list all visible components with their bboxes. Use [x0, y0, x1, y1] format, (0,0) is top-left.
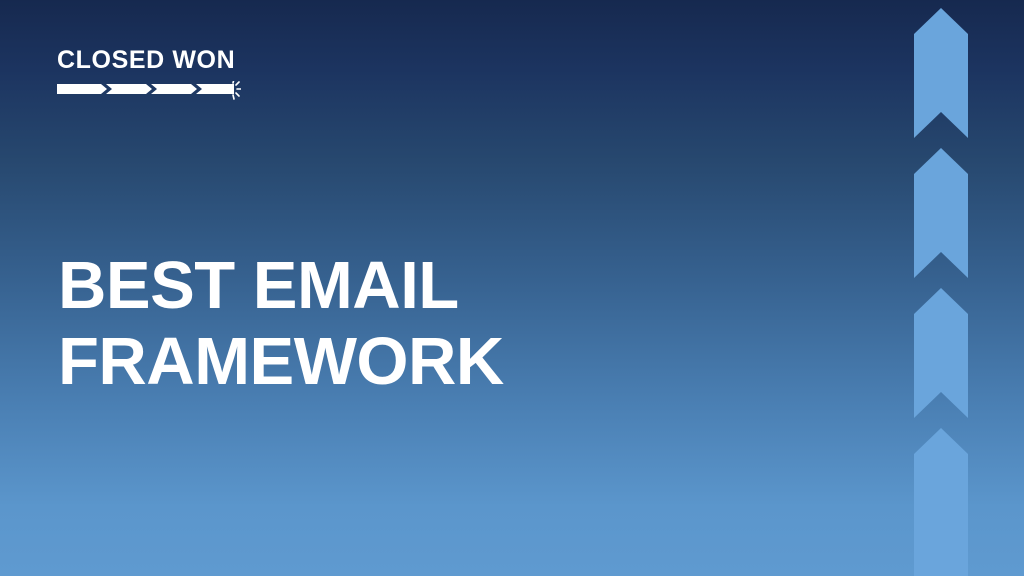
logo-wordmark: CLOSED WON [57, 48, 267, 73]
segmented-arrow-rule-icon [57, 81, 241, 101]
page-title: BEST EMAIL FRAMEWORK [58, 248, 618, 399]
page-title-line-2: FRAMEWORK [58, 324, 618, 400]
logo[interactable]: CLOSED WON [57, 48, 267, 101]
up-chevron-stack-icon [914, 0, 968, 576]
logo-rule [57, 81, 241, 101]
chevron-column-decoration [914, 0, 968, 576]
page-title-line-1: BEST EMAIL [58, 248, 618, 324]
burst-icon [233, 81, 241, 99]
slide-canvas: CLOSED WON [0, 0, 1024, 576]
